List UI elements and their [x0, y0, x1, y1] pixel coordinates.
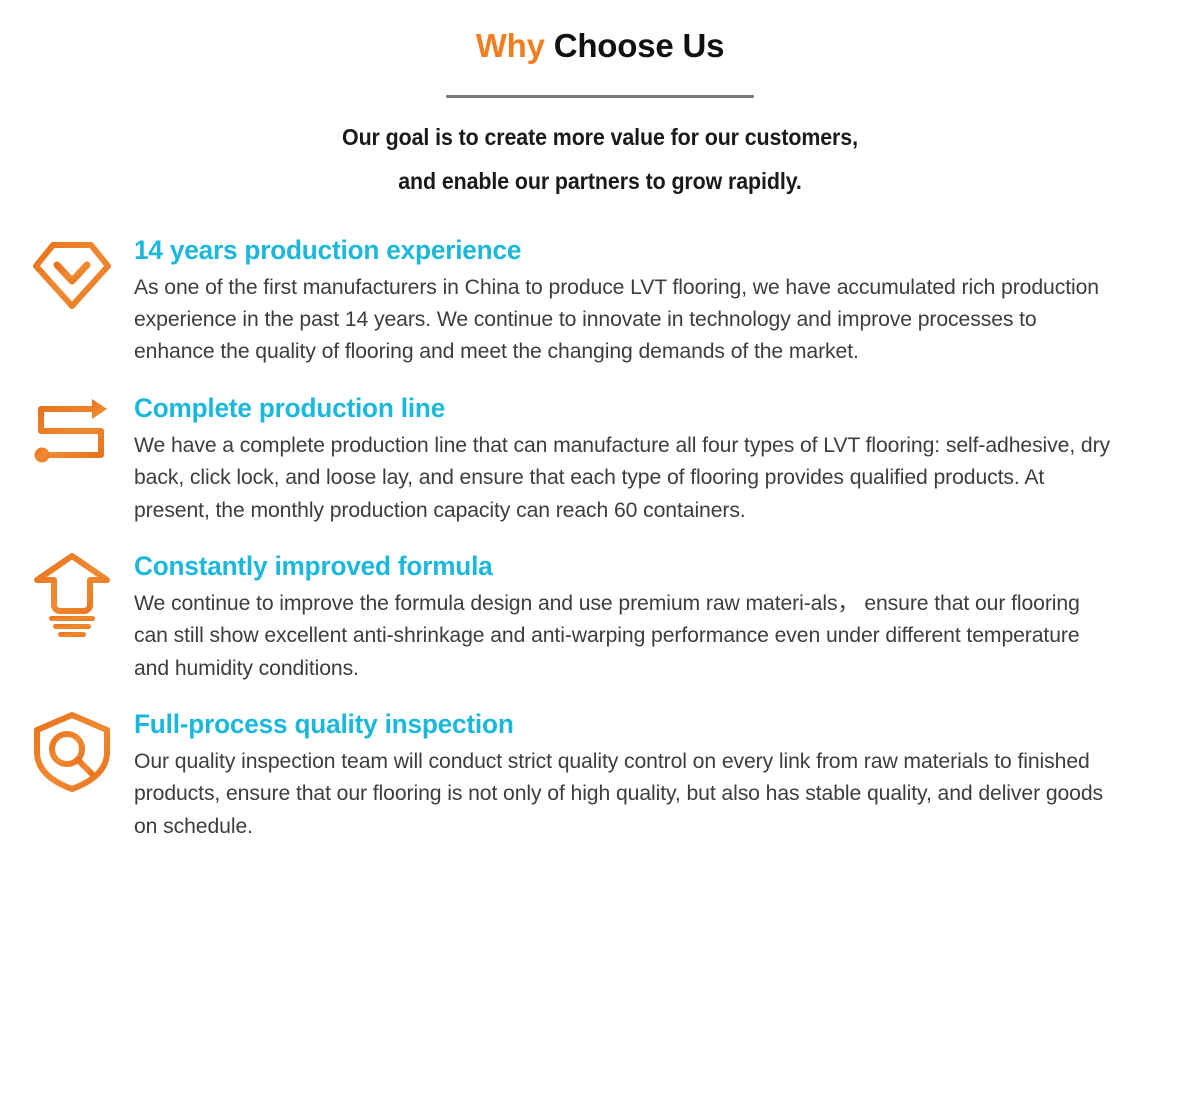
feature-text: As one of the first manufacturers in Chi…	[134, 271, 1119, 368]
feature-item: 14 years production experience As one of…	[26, 230, 1170, 368]
subtitle-line-2: and enable our partners to grow rapidly.	[42, 170, 1158, 193]
feature-text: We have a complete production line that …	[134, 429, 1119, 526]
feature-list: 14 years production experience As one of…	[0, 230, 1200, 842]
page-title-accent: Why	[476, 27, 545, 64]
feature-text: We continue to improve the formula desig…	[134, 587, 1119, 684]
feature-item: Complete production line We have a compl…	[26, 388, 1170, 526]
feature-body: 14 years production experience As one of…	[118, 230, 1170, 368]
section-subtitle: Our goal is to create more value for our…	[0, 126, 1200, 193]
feature-item: Full-process quality inspection Our qual…	[26, 704, 1170, 842]
page-title: Why Choose Us	[0, 26, 1200, 66]
diamond-check-icon	[26, 230, 118, 322]
feature-heading: Constantly improved formula	[134, 552, 1139, 580]
section-header: Why Choose Us Our goal is to create more…	[0, 0, 1200, 193]
feature-text: Our quality inspection team will conduct…	[134, 745, 1119, 842]
feature-heading: Complete production line	[134, 394, 1139, 422]
feature-heading: Full-process quality inspection	[134, 710, 1139, 738]
title-divider	[446, 95, 754, 98]
feature-heading: 14 years production experience	[134, 236, 1139, 264]
feature-body: Full-process quality inspection Our qual…	[118, 704, 1170, 842]
feature-item: Constantly improved formula We continue …	[26, 546, 1170, 684]
shield-magnifier-icon	[26, 704, 118, 796]
why-choose-us-section: Why Choose Us Our goal is to create more…	[0, 0, 1200, 1099]
production-line-arrow-icon	[26, 388, 118, 480]
feature-body: Complete production line We have a compl…	[118, 388, 1170, 526]
page-title-rest: Choose Us	[554, 27, 725, 64]
subtitle-line-1: Our goal is to create more value for our…	[42, 126, 1158, 149]
rocket-up-arrow-icon	[26, 546, 118, 638]
feature-body: Constantly improved formula We continue …	[118, 546, 1170, 684]
